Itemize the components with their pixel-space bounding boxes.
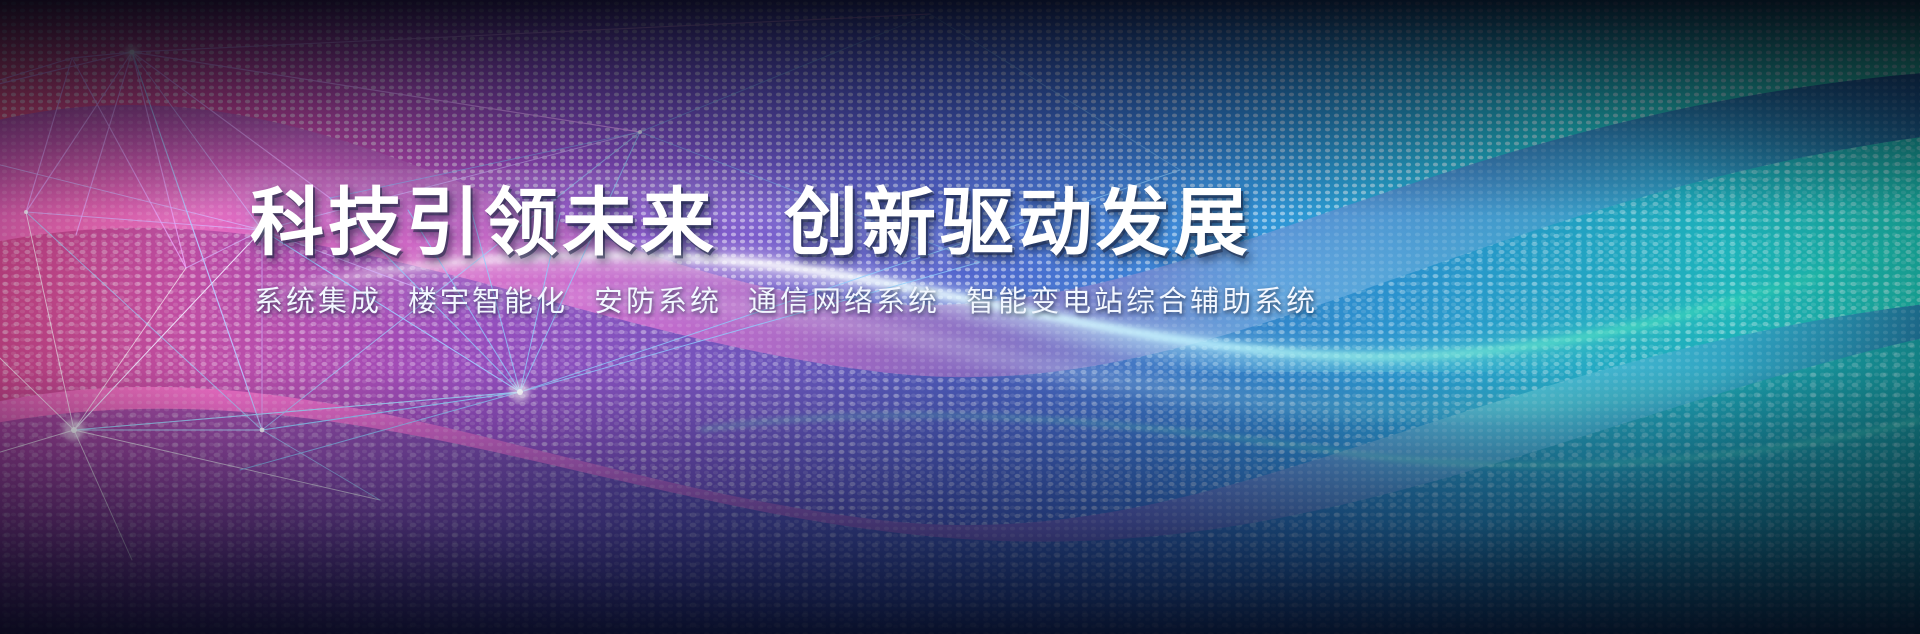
headline-part-2: 创新驱动发展 bbox=[784, 181, 1252, 264]
subtitle-item-1: 楼宇智能化 bbox=[408, 286, 568, 318]
hero-banner: 科技引领未来创新驱动发展 系统集成楼宇智能化安防系统通信网络系统智能变电站综合辅… bbox=[0, 0, 1920, 634]
dot-band-middle bbox=[0, 90, 1920, 610]
banner-headline: 科技引领未来创新驱动发展 bbox=[250, 186, 1590, 260]
subtitle-item-4: 智能变电站综合辅助系统 bbox=[966, 286, 1318, 318]
subtitle-item-0: 系统集成 bbox=[254, 286, 382, 318]
headline-part-1: 科技引领未来 bbox=[250, 181, 718, 264]
banner-subtitle: 系统集成楼宇智能化安防系统通信网络系统智能变电站综合辅助系统 bbox=[254, 288, 1590, 317]
subtitle-item-3: 通信网络系统 bbox=[748, 286, 940, 318]
subtitle-item-2: 安防系统 bbox=[594, 286, 722, 318]
banner-copy: 科技引领未来创新驱动发展 系统集成楼宇智能化安防系统通信网络系统智能变电站综合辅… bbox=[250, 186, 1590, 317]
dot-band-bottom bbox=[0, 300, 1920, 634]
